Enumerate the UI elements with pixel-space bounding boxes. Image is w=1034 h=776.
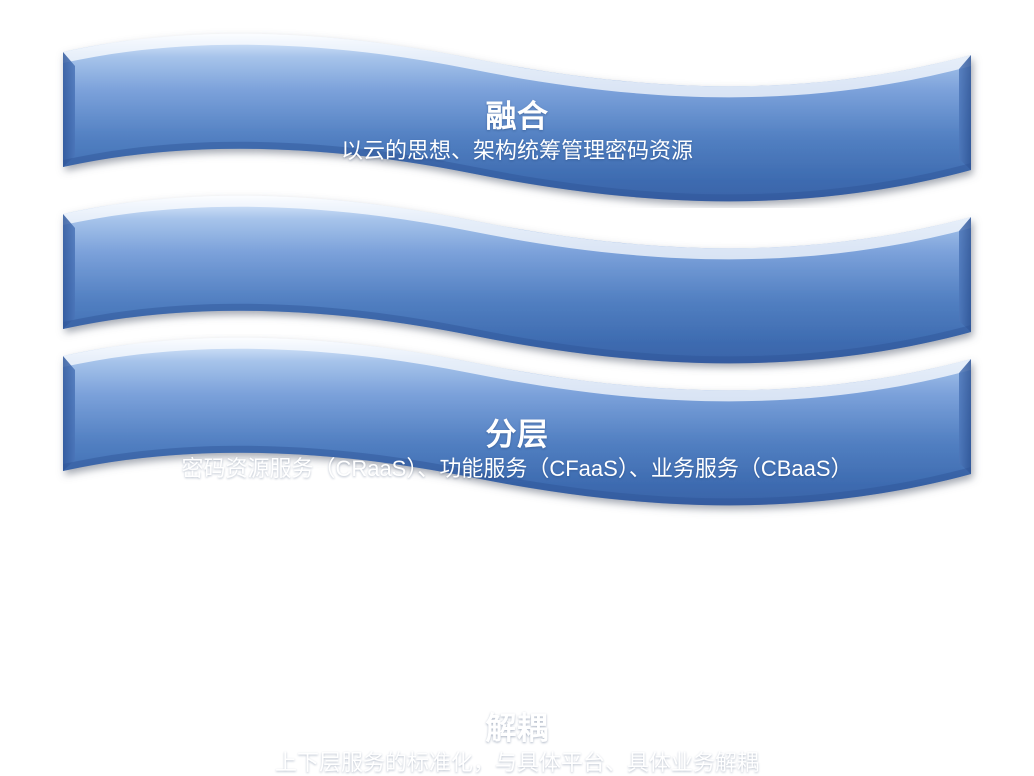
wave-band-3-title: 解耦 [0,712,1034,747]
wave-banner-diagram: 融合 以云的思想、架构统筹管理密码资源 [0,0,1034,559]
wave-left-bevel [63,356,75,471]
wave-left-bevel [63,52,75,167]
wave-right-bevel [959,55,971,170]
wave-band-3-text: 解耦 上下层服务的标准化，与具体平台、具体业务解耦 [0,712,1034,776]
wave-right-bevel [959,217,971,332]
wave-band-1[interactable]: 融合 以云的思想、架构统筹管理密码资源 [0,18,1034,208]
wave-right-bevel [959,359,971,474]
wave-band-3-subtitle: 上下层服务的标准化，与具体平台、具体业务解耦 [0,749,1034,776]
wave-left-bevel [63,214,75,329]
wave-band-3[interactable]: 解耦 上下层服务的标准化，与具体平台、具体业务解耦 [0,334,1034,524]
wave-band-1-shape [0,18,1034,208]
wave-band-3-shape [0,334,1034,524]
